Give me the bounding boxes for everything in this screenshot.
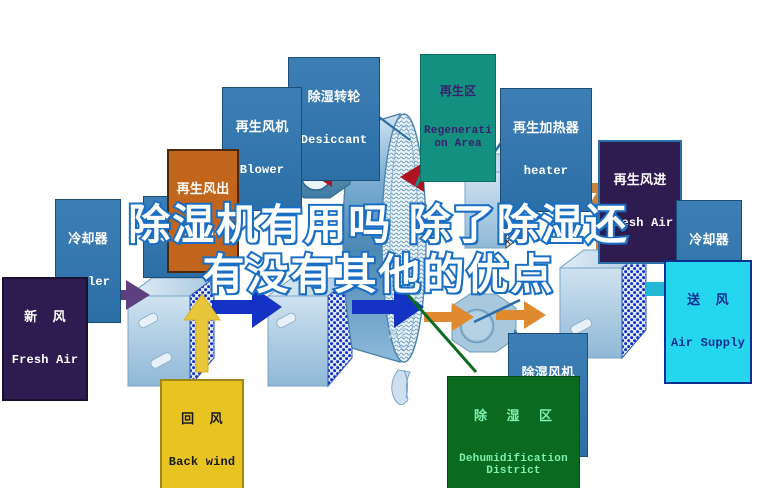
label-regeneration-fresh-air: 再生风进 Fresh Air xyxy=(598,140,682,264)
cooler-center-unit xyxy=(268,278,352,386)
label-regeneration-heater-cn: 再生加热器 xyxy=(503,121,589,136)
label-air-supply: 送 风 Air Supply xyxy=(664,260,752,384)
label-regeneration-fresh-air-en: Fresh Air xyxy=(602,217,678,230)
label-dehumidification-district-en: Dehumidification District xyxy=(450,453,577,478)
label-back-wind-cn: 回 风 xyxy=(164,412,240,427)
label-regeneration-area-cn: 再生区 xyxy=(423,85,493,98)
label-exhaust-en: Exhaust xyxy=(171,226,235,239)
label-fresh-air-inlet: 新 风 Fresh Air xyxy=(2,277,88,401)
label-exhaust-cn: 再生风出 xyxy=(171,182,235,197)
label-regeneration-area: 再生区 Regenerati on Area xyxy=(420,54,496,182)
label-cooler-left-cn: 冷却器 xyxy=(58,232,118,247)
label-desiccant-wheel-cn: 除湿转轮 xyxy=(291,90,377,105)
label-air-supply-en: Air Supply xyxy=(668,337,748,350)
diagram-canvas: xt 除湿转轮 Desiccant 再生风机 Blower 再生区 Regene… xyxy=(0,0,757,488)
label-regeneration-heater: 再生加热器 heater xyxy=(500,88,592,212)
label-regeneration-blower-cn: 再生风机 xyxy=(225,120,299,135)
label-regeneration-fresh-air-cn: 再生风进 xyxy=(602,173,678,188)
label-desiccant-wheel-en: Desiccant xyxy=(291,134,377,147)
label-air-supply-cn: 送 风 xyxy=(668,293,748,308)
label-dehumidification-district: 除 湿 区 Dehumidification District xyxy=(447,376,580,488)
label-back-wind: 回 风 Back wind xyxy=(160,379,244,488)
watermark: xt xyxy=(388,322,408,343)
label-regeneration-heater-en: heater xyxy=(503,165,589,178)
label-back-wind-en: Back wind xyxy=(164,456,240,469)
label-dehumidification-district-cn: 除 湿 区 xyxy=(450,409,577,424)
label-cooler-right-cn: 冷却器 xyxy=(679,233,739,248)
label-regeneration-area-en: Regenerati on Area xyxy=(423,125,493,150)
label-exhaust: 再生风出 Exhaust xyxy=(167,149,239,273)
label-fresh-air-inlet-en: Fresh Air xyxy=(6,354,84,367)
label-fresh-air-inlet-cn: 新 风 xyxy=(6,310,84,325)
